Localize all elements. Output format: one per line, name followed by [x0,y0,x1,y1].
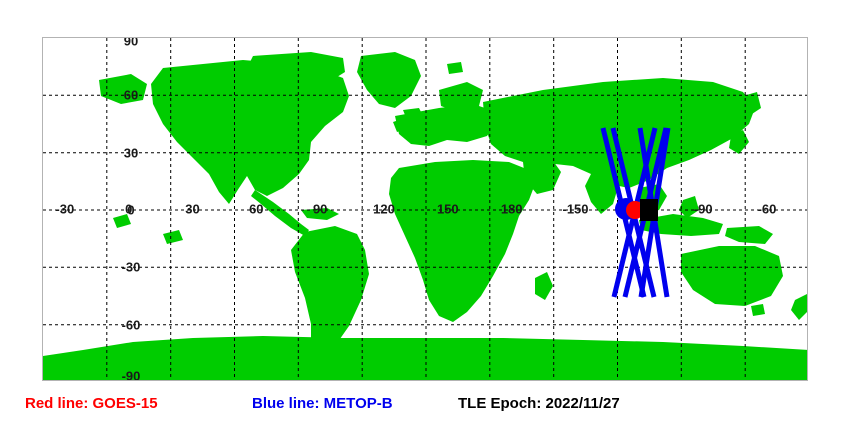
lon-tick-minus30: -30 [55,203,74,216]
lat-tick-minus60: -60 [122,318,141,331]
world-map[interactable]: -30 0 30 60 90 120 150 180 -150 -90 -60 … [42,37,808,381]
observer-marker [640,199,658,221]
lon-tick-150: 150 [437,203,459,216]
lon-tick-180: 180 [501,203,523,216]
legend-tle-epoch: TLE Epoch: 2022/11/27 [458,396,620,411]
lat-tick-minus30: -30 [122,261,141,274]
lon-tick-minus150: -150 [562,203,588,216]
lon-tick-90: 90 [313,203,327,216]
lon-tick-60: 60 [249,203,263,216]
satellite-track-map-page: -30 0 30 60 90 120 150 180 -150 -90 -60 … [0,0,850,425]
map-legend-footer: Red line: GOES-15 Blue line: METOP-B TLE… [0,392,850,425]
lat-tick-minus90: -90 [122,370,141,382]
lat-tick-0: 0 [127,204,134,217]
lon-tick-30: 30 [185,203,199,216]
satellite-markers[interactable] [615,198,658,221]
legend-blue-line-metop-b: Blue line: METOP-B [252,396,393,411]
svalbard [447,62,463,74]
lon-tick-120: 120 [373,203,395,216]
lon-tick-minus90: -90 [694,203,713,216]
lon-tick-minus60: -60 [758,203,777,216]
lat-tick-90: 90 [124,37,138,48]
tasmania [751,304,765,316]
legend-red-line-goes15: Red line: GOES-15 [25,396,158,411]
lat-tick-60: 60 [124,89,138,102]
lat-tick-30: 30 [124,146,138,159]
